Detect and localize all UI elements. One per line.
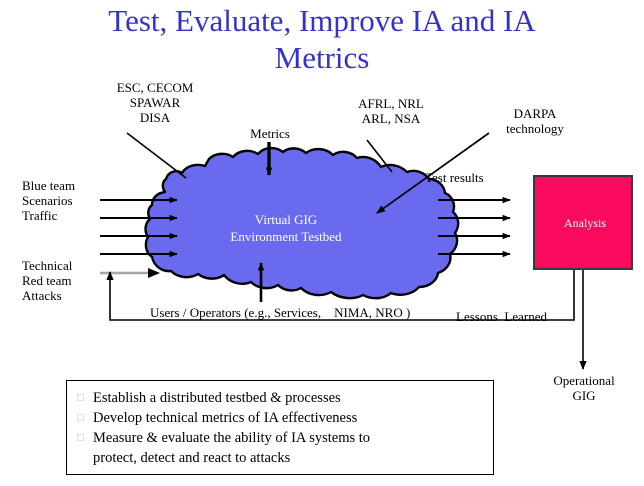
analysis-label: Analysis [535, 216, 635, 231]
input-red-team-label: Technical Red team Attacks [22, 258, 112, 303]
output-test-results-label: Test results [425, 170, 525, 185]
callout-metrics: Metrics [234, 126, 306, 141]
lessons-learned-label: Lessons Learned [456, 309, 576, 324]
callout-darpa-technology: DARPA technology [480, 106, 590, 136]
list-item-text: Measure & evaluate the ability of IA sys… [93, 428, 370, 468]
callout-esc-cecom-spawar-disa: ESC, CECOM SPAWAR DISA [90, 80, 220, 125]
list-item-text: Establish a distributed testbed & proces… [93, 388, 341, 408]
esc-leader-line [127, 133, 186, 178]
input-blue-team-label: Blue team Scenarios Traffic [22, 178, 112, 223]
list-item: □ Develop technical metrics of IA effect… [77, 408, 493, 428]
slide-canvas: Test, Evaluate, Improve IA and IA Metric… [0, 0, 644, 486]
operational-gig-label: Operational GIG [532, 373, 636, 403]
objectives-box: □ Establish a distributed testbed & proc… [66, 380, 494, 475]
list-item: □ Establish a distributed testbed & proc… [77, 388, 493, 408]
bullet-square-icon: □ [77, 428, 93, 448]
users-operators-label: Users / Operators (e.g., Services, NIMA,… [150, 305, 470, 320]
callout-afrl-nrl-arl-nsa: AFRL, NRL ARL, NSA [335, 96, 447, 126]
bullet-square-icon: □ [77, 408, 93, 428]
list-item-text: Develop technical metrics of IA effectiv… [93, 408, 357, 428]
bullet-square-icon: □ [77, 388, 93, 408]
list-item: □ Measure & evaluate the ability of IA s… [77, 428, 493, 468]
analysis-box[interactable]: Analysis [533, 175, 633, 270]
virtual-gig-blob[interactable] [146, 148, 459, 298]
